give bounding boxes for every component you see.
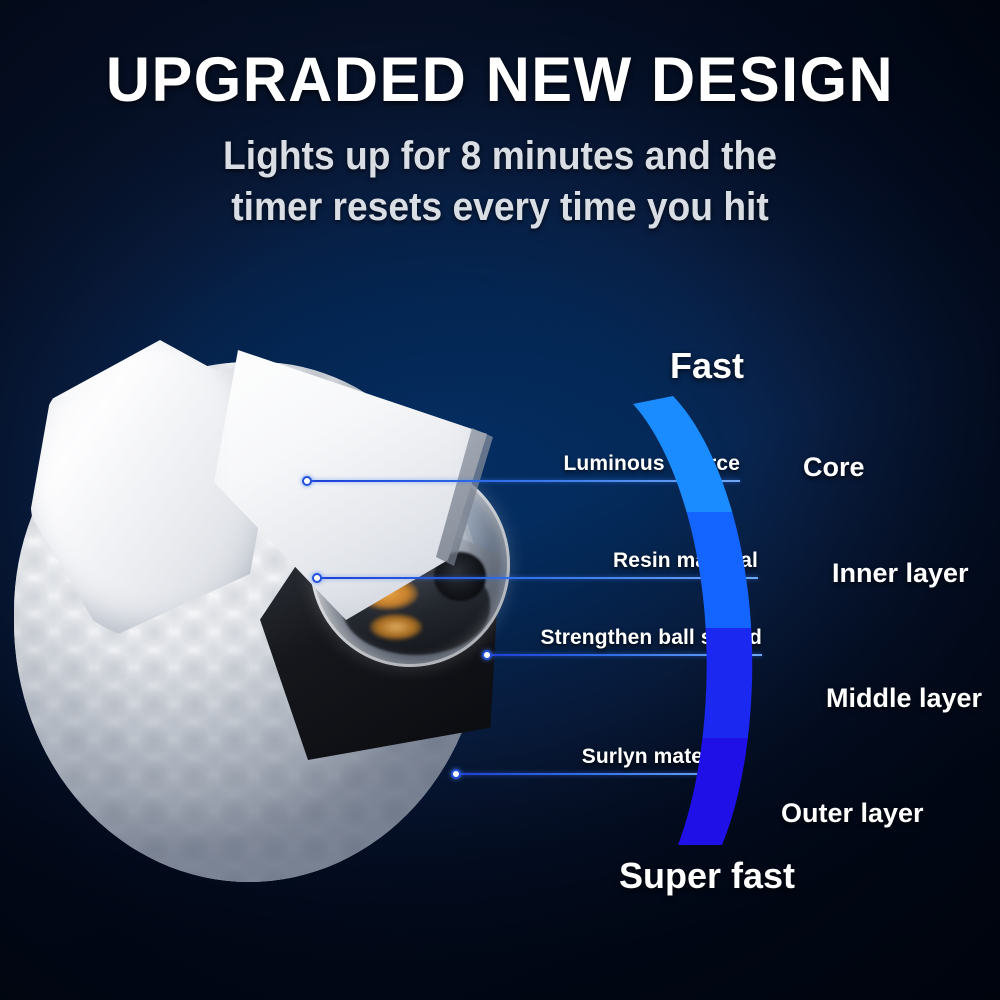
- infographic-canvas: UPGRADED NEW DESIGN Lights up for 8 minu…: [0, 0, 1000, 1000]
- layer-label-core: Core: [803, 452, 865, 483]
- speed-label-super-fast: Super fast: [619, 855, 795, 897]
- arc-band-inner: [600, 512, 820, 628]
- layer-label-middle-layer: Middle layer: [826, 683, 982, 714]
- arc-band-core: [600, 380, 820, 512]
- speed-gradient-arc: [0, 0, 1000, 1000]
- speed-label-fast: Fast: [670, 345, 744, 387]
- arc-band-middle: [600, 628, 820, 738]
- layer-label-outer-layer: Outer layer: [781, 798, 924, 829]
- layer-label-inner-layer: Inner layer: [832, 558, 969, 589]
- arc-bands: [600, 380, 820, 868]
